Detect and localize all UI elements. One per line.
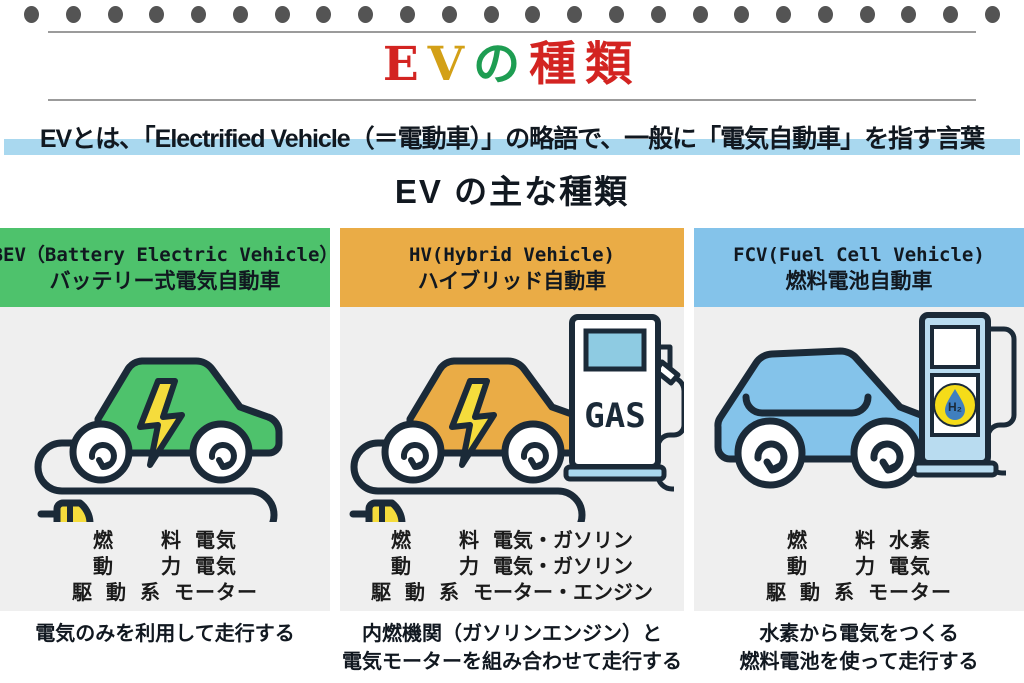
electric-car-icon: [0, 307, 330, 522]
spec-row: 動力 電気・ガソリン: [391, 554, 633, 580]
decorative-dot: [108, 6, 123, 23]
decorative-dot: [609, 6, 624, 23]
spec-key: 駆動系: [72, 580, 160, 606]
spec-row: 駆動系 モーター: [766, 580, 952, 606]
column-title-en-fcv: FCV(Fuel Cell Vehicle): [733, 242, 985, 268]
decorative-dot: [191, 6, 206, 23]
column-title-jp-bev: バッテリー式電気自動車: [50, 268, 281, 295]
spec-key: 燃料: [93, 528, 181, 554]
decorative-dot: [149, 6, 164, 23]
vehicle-type-columns: BEV（Battery Electric Vehicle） バッテリー式電気自動…: [0, 228, 1024, 611]
gas-pump-icon: GAS: [566, 317, 684, 489]
decorative-dot: [734, 6, 749, 23]
decorative-dot: [943, 6, 958, 23]
spec-key: 動力: [93, 554, 181, 580]
spec-value: 電気・ガソリン: [493, 528, 633, 554]
illustration-fcv: H₂: [694, 307, 1024, 522]
caption-line: 水素から電気をつくる: [759, 620, 959, 648]
decorative-dot: [776, 6, 791, 23]
caption-line: 電気モーターを組み合わせて走行する: [342, 648, 682, 676]
gas-pump-label: GAS: [584, 396, 645, 436]
illustration-hv: GAS: [340, 307, 684, 522]
caption-row: 電気のみを利用して走行する 内燃機関（ガソリンエンジン）と 電気モーターを組み合…: [0, 616, 1024, 683]
caption-bev: 電気のみを利用して走行する: [0, 616, 330, 683]
spec-row: 燃料 電気: [93, 528, 237, 554]
caption-hv: 内燃機関（ガソリンエンジン）と 電気モーターを組み合わせて走行する: [340, 616, 684, 683]
column-header-hv: HV(Hybrid Vehicle) ハイブリッド自動車: [340, 228, 684, 307]
hybrid-car-icon: GAS: [340, 307, 684, 522]
column-title-en-hv: HV(Hybrid Vehicle): [409, 242, 615, 268]
caption-divider: [684, 616, 694, 683]
decorative-dot: [275, 6, 290, 23]
decorative-dot: [651, 6, 666, 23]
section-heading: EV の主な種類: [0, 168, 1024, 216]
spec-row: 動力 電気: [787, 554, 931, 580]
title-char-no: の: [473, 37, 529, 92]
spec-key: 駆動系: [766, 580, 854, 606]
decorative-dot: [442, 6, 457, 23]
spec-key: 燃料: [787, 528, 875, 554]
column-title-en-bev: BEV（Battery Electric Vehicle）: [0, 242, 338, 268]
decorative-dot: [818, 6, 833, 23]
title-char-shurui: 種類: [529, 37, 641, 92]
caption-line: 燃料電池を使って走行する: [740, 648, 979, 676]
decorative-dot: [233, 6, 248, 23]
decorative-dot: [901, 6, 916, 23]
hydrogen-pump-icon: H₂: [914, 315, 1014, 475]
decorative-dot: [24, 6, 39, 23]
page-title: EVの種類: [0, 33, 1024, 97]
spec-row: 燃料 電気・ガソリン: [391, 528, 633, 554]
illustration-bev: [0, 307, 330, 522]
infographic-page: EVの種類 EVとは、「Electrified Vehicle（＝電動車）」の略…: [0, 0, 1024, 683]
decorative-dot: [693, 6, 708, 23]
decorative-dot: [860, 6, 875, 23]
column-title-jp-hv: ハイブリッド自動車: [418, 268, 607, 295]
decorative-dot: [400, 6, 415, 23]
hydrogen-badge-label: H₂: [948, 400, 962, 414]
spec-value: 電気: [195, 528, 237, 554]
column-title-jp-fcv: 燃料電池自動車: [786, 268, 933, 295]
decorative-dot-row: [0, 6, 1024, 28]
caption-line: 電気のみを利用して走行する: [35, 620, 294, 648]
column-divider: [330, 228, 340, 611]
caption-fcv: 水素から電気をつくる 燃料電池を使って走行する: [694, 616, 1024, 683]
spec-list-bev: 燃料 電気 動力 電気 駆動系 モーター: [0, 522, 330, 611]
title-rule-bottom: [48, 99, 976, 101]
pump-screen: [932, 327, 978, 367]
decorative-dot: [567, 6, 582, 23]
decorative-dot: [358, 6, 373, 23]
spec-list-hv: 燃料 電気・ガソリン 動力 電気・ガソリン 駆動系 モーター・エンジン: [340, 522, 684, 611]
spec-row: 駆動系 モーター・エンジン: [371, 580, 653, 606]
lead-sentence: EVとは、「Electrified Vehicle（＝電動車）」の略語で、一般に…: [0, 119, 1024, 159]
column-divider: [684, 228, 694, 611]
caption-line: 内燃機関（ガソリンエンジン）と: [362, 620, 662, 648]
spec-value: モーター: [868, 580, 952, 606]
column-bev: BEV（Battery Electric Vehicle） バッテリー式電気自動…: [0, 228, 330, 611]
spec-key: 動力: [787, 554, 875, 580]
charging-plug-icon: [353, 503, 402, 522]
spec-row: 動力 電気: [93, 554, 237, 580]
spec-value: 電気: [195, 554, 237, 580]
column-header-bev: BEV（Battery Electric Vehicle） バッテリー式電気自動…: [0, 228, 330, 307]
charging-plug-icon: [41, 503, 90, 522]
column-header-fcv: FCV(Fuel Cell Vehicle) 燃料電池自動車: [694, 228, 1024, 307]
decorative-dot: [484, 6, 499, 23]
spec-key: 動力: [391, 554, 479, 580]
fuel-cell-car-icon: H₂: [694, 307, 1024, 522]
spec-value: 電気・ガソリン: [493, 554, 633, 580]
decorative-dot: [525, 6, 540, 23]
spec-row: 駆動系 モーター: [72, 580, 258, 606]
pump-screen: [586, 331, 644, 369]
spec-key: 駆動系: [371, 580, 459, 606]
title-char-v: V: [428, 37, 473, 92]
title-char-e: E: [383, 37, 428, 92]
spec-value: モーター: [174, 580, 258, 606]
column-hv: HV(Hybrid Vehicle) ハイブリッド自動車: [340, 228, 684, 611]
spec-value: モーター・エンジン: [473, 580, 653, 606]
decorative-dot: [316, 6, 331, 23]
caption-divider: [330, 616, 340, 683]
decorative-dot: [66, 6, 81, 23]
spec-list-fcv: 燃料 水素 動力 電気 駆動系 モーター: [694, 522, 1024, 611]
spec-value: 電気: [889, 554, 931, 580]
spec-key: 燃料: [391, 528, 479, 554]
spec-row: 燃料 水素: [787, 528, 931, 554]
lead-sentence-block: EVとは、「Electrified Vehicle（＝電動車）」の略語で、一般に…: [0, 119, 1024, 159]
spec-value: 水素: [889, 528, 931, 554]
decorative-dot: [985, 6, 1000, 23]
column-fcv: FCV(Fuel Cell Vehicle) 燃料電池自動車: [694, 228, 1024, 611]
